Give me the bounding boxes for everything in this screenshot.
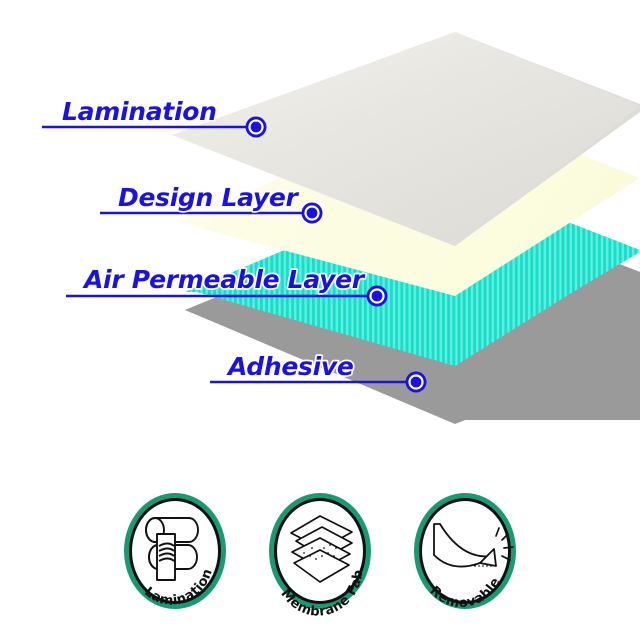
layer-label-lamination: Lamination: [62, 97, 217, 126]
layer-diagram: Lamination Design Layer: [0, 0, 640, 640]
layer-label-adhesive: Adhesive: [226, 352, 354, 381]
badge-lamination[interactable]: Lamination: [124, 493, 226, 609]
callout-marker-design-layer[interactable]: [302, 203, 323, 224]
badge-removable[interactable]: Removable: [414, 493, 516, 611]
callout-marker-adhesive[interactable]: [406, 372, 427, 393]
layer-label-air-permeable-layer: Air Permeable Layer: [82, 265, 366, 294]
callout-marker-lamination[interactable]: [246, 117, 267, 138]
layer-label-design-layer: Design Layer: [118, 183, 300, 212]
callout-marker-air-permeable-layer[interactable]: [367, 286, 388, 307]
diagram-stage: Lamination Design Layer: [0, 0, 640, 640]
